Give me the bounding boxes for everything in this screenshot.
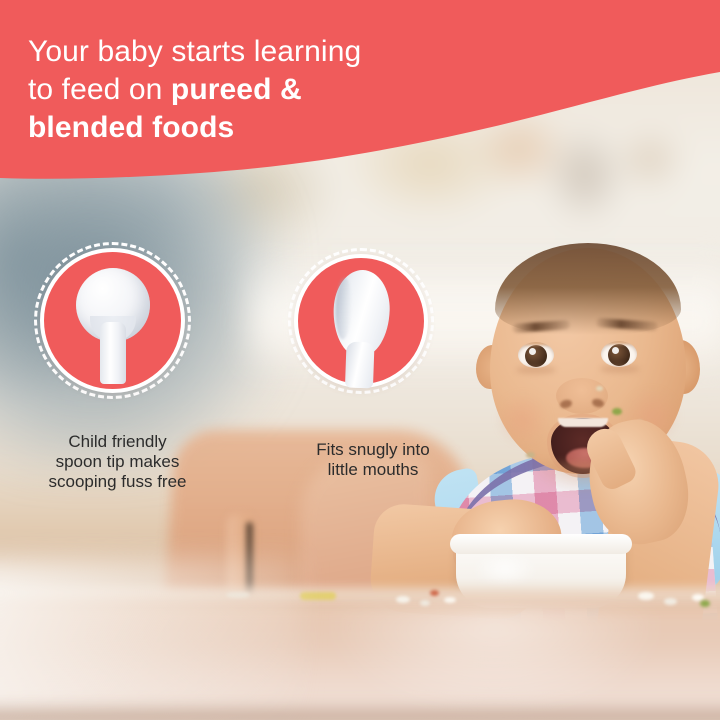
baby-cheek-left — [496, 392, 550, 446]
caption-line-2: little mouths — [328, 460, 419, 479]
baby-eyelid-left — [518, 342, 554, 345]
bottom-shadow — [0, 700, 720, 720]
feature-caption-spoon-tip: Child friendly spoon tip makes scooping … — [15, 432, 220, 492]
baby-nose — [556, 378, 608, 414]
headline-line-2-plain: to feed on — [28, 73, 171, 106]
baby-iris-left — [525, 345, 547, 367]
caption-line-1: Child friendly — [68, 432, 166, 451]
spoon-front-view-icon — [76, 268, 150, 380]
feature-caption-spoon-fit: Fits snugly into little mouths — [282, 440, 464, 480]
spoon-side-view-icon — [331, 269, 391, 389]
headline-line-3-bold: blended foods — [28, 111, 234, 144]
food-crumb — [420, 600, 430, 606]
baby-undereye-left — [516, 366, 556, 374]
baby-iris-right — [608, 344, 630, 366]
baby-undereye-right — [600, 365, 640, 373]
food-crumb-red — [430, 590, 439, 596]
white-bowl-highlight — [472, 552, 538, 586]
baby-eyelid-right — [601, 341, 637, 344]
tray-left-softlight — [0, 560, 300, 720]
baby-teeth — [558, 418, 608, 427]
spoon-handle — [100, 322, 126, 384]
feature-badge-spoon-tip[interactable] — [34, 242, 191, 399]
food-smear-cheek — [612, 408, 622, 415]
headline: Your baby starts learning to feed on pur… — [28, 33, 458, 147]
food-crumb — [396, 596, 410, 603]
food-smear-lip — [596, 386, 603, 391]
food-smear-chin — [526, 452, 535, 458]
product-feature-poster: Your baby starts learning to feed on pur… — [0, 0, 720, 720]
spoon-handle — [345, 342, 375, 389]
food-crumb — [444, 597, 456, 603]
food-crumb — [638, 592, 654, 600]
food-crumb — [664, 598, 677, 605]
food-crumb-yellow — [300, 592, 336, 600]
food-crumb-green — [700, 600, 710, 607]
baby-eye-left — [518, 342, 554, 368]
caption-line-2: spoon tip makes — [56, 452, 180, 471]
headline-line-1: Your baby starts learning — [28, 35, 361, 68]
white-bowl-rim — [450, 534, 632, 554]
caption-line-3: scooping fuss free — [49, 472, 187, 491]
feature-badge-spoon-fit[interactable] — [288, 248, 434, 394]
caption-line-1: Fits snugly into — [316, 440, 429, 459]
baby-eye-right — [601, 341, 637, 367]
headline-line-2-bold: pureed & — [171, 73, 302, 106]
